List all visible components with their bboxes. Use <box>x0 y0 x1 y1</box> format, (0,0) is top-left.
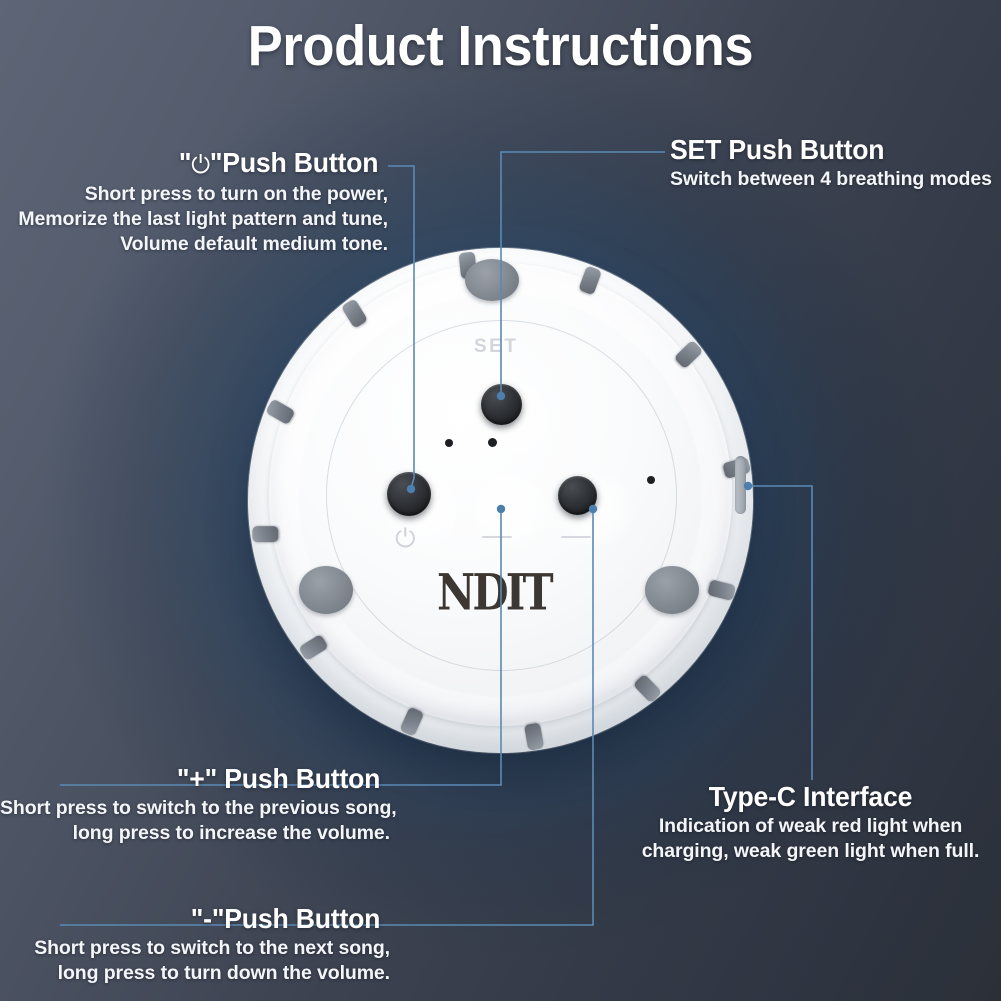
callout-power-line-2: Memorize the last light pattern and tune… <box>0 207 388 232</box>
callout-power-heading-text: "Push Button <box>210 147 378 178</box>
callout-typec-heading: Type-C Interface <box>630 780 992 814</box>
callout-plus-line-2: long press to increase the volume. <box>0 821 390 846</box>
callout-power-line-1: Short press to turn on the power, <box>0 182 388 207</box>
callout-power-heading: "⏻"Push Button <box>10 146 379 182</box>
leader-line-typec <box>748 486 812 780</box>
callout-typec: Type-C Interface Indication of weak red … <box>620 780 1001 864</box>
callout-power: "⏻"Push Button Short press to turn on th… <box>0 146 388 257</box>
power-icon: ⏻ <box>191 148 210 182</box>
callout-set-heading: SET Push Button <box>670 133 984 167</box>
callout-set-line-1: Switch between 4 breathing modes <box>670 167 1001 192</box>
leader-endpoint <box>589 505 597 513</box>
callout-plus-heading: "+" Push Button <box>10 762 381 796</box>
callout-minus-line-2: long press to turn down the volume. <box>0 961 390 986</box>
callout-minus: "-"Push Button Short press to switch to … <box>0 902 390 986</box>
leader-endpoint <box>497 392 505 400</box>
leader-endpoint <box>497 505 505 513</box>
callout-set: SET Push Button Switch between 4 breathi… <box>670 133 1001 192</box>
leader-line-minus <box>60 508 593 925</box>
callout-typec-line-2: charging, weak green light when full. <box>620 839 1001 864</box>
callout-plus: "+" Push Button Short press to switch to… <box>0 762 390 846</box>
leader-line-set <box>501 152 665 396</box>
leader-endpoint <box>744 482 752 490</box>
leader-line-plus <box>60 508 501 785</box>
leader-endpoint <box>407 485 415 493</box>
leader-line-power <box>388 166 414 488</box>
quote-open: " <box>179 147 191 178</box>
callout-power-line-3: Volume default medium tone. <box>0 232 388 257</box>
product-instructions-infographic: Product Instructions SET <box>0 0 1001 1001</box>
callout-typec-line-1: Indication of weak red light when <box>620 814 1001 839</box>
callout-plus-line-1: Short press to switch to the previous so… <box>0 796 390 821</box>
callout-minus-heading: "-"Push Button <box>10 902 381 936</box>
callout-minus-line-1: Short press to switch to the next song, <box>0 936 390 961</box>
